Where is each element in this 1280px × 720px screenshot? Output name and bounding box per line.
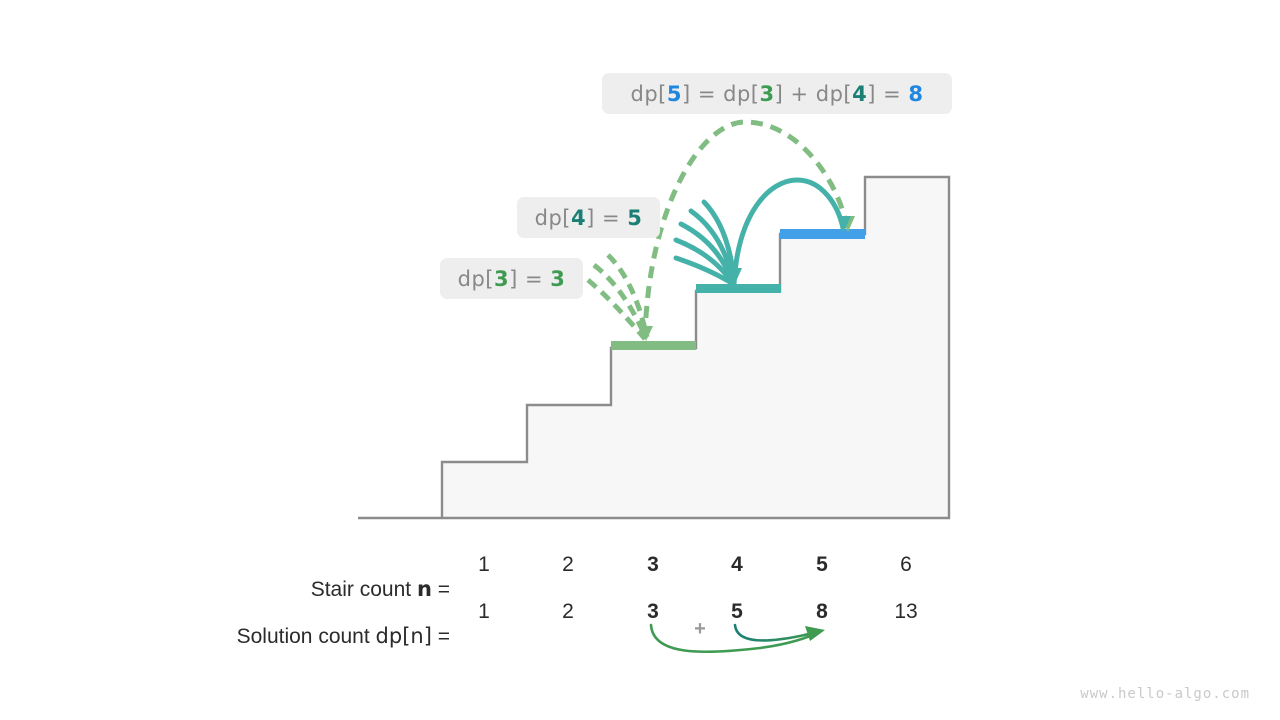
dp4-prefix: dp[: [535, 206, 571, 230]
formula-chip-dp3: dp[3] = 3: [440, 258, 583, 299]
formula-chip-dp4: dp[4] = 5: [517, 197, 660, 238]
formula-chip-dp5: dp[5] = dp[3] + dp[4] = 8: [602, 73, 952, 114]
table-row: 13: [884, 600, 928, 624]
stair-count-eq: =: [432, 578, 450, 601]
table-row: 1: [462, 600, 506, 624]
dp3-value: 3: [550, 267, 565, 291]
stair-count-var: n: [417, 577, 432, 601]
table-row: 3: [631, 553, 675, 577]
solution-count-var: dp[n]: [376, 624, 432, 648]
table-row: 3: [631, 600, 675, 624]
watermark: www.hello-algo.com: [1080, 686, 1250, 702]
formula-mid-2: ] + dp[: [775, 82, 853, 106]
plus-symbol: +: [690, 618, 710, 641]
table-row: 5: [715, 600, 759, 624]
teal-solid-fan: [676, 202, 734, 282]
table-row: 1: [462, 553, 506, 577]
sum-arrow-head: [805, 626, 825, 641]
dp4-index: 4: [571, 206, 586, 230]
solution-count-text: Solution count: [237, 625, 376, 648]
diagram-canvas: dp[5] = dp[3] + dp[4] = 8 dp[4] = 5 dp[3…: [0, 0, 1280, 720]
table-row: 8: [800, 600, 844, 624]
formula-mid-3: ] =: [867, 82, 908, 106]
table-row: 2: [546, 600, 590, 624]
step-3-highlight-bar: [611, 341, 696, 350]
table-row: 6: [884, 553, 928, 577]
formula-index-3: 3: [759, 82, 774, 106]
dp4-mid: ] =: [586, 206, 627, 230]
dp3-index: 3: [494, 267, 509, 291]
table-row: 2: [546, 553, 590, 577]
formula-index-5: 5: [667, 82, 682, 106]
dp3-mid: ] =: [509, 267, 550, 291]
dp4-value: 5: [627, 206, 642, 230]
solution-count-eq: =: [432, 625, 450, 648]
stair-count-text: Stair count: [311, 578, 417, 601]
step-4-highlight-bar: [696, 284, 781, 293]
formula-result: 8: [908, 82, 923, 106]
formula-index-4: 4: [852, 82, 867, 106]
solution-count-row-label: Solution count dp[n] =: [60, 600, 450, 673]
table-row: 5: [800, 553, 844, 577]
table-row: 4: [715, 553, 759, 577]
green-dashed-fan: [588, 255, 647, 339]
formula-mid-1: ] = dp[: [682, 82, 760, 106]
step-5-highlight-bar: [780, 229, 865, 239]
formula-prefix: dp[: [631, 82, 667, 106]
dp3-prefix: dp[: [458, 267, 494, 291]
